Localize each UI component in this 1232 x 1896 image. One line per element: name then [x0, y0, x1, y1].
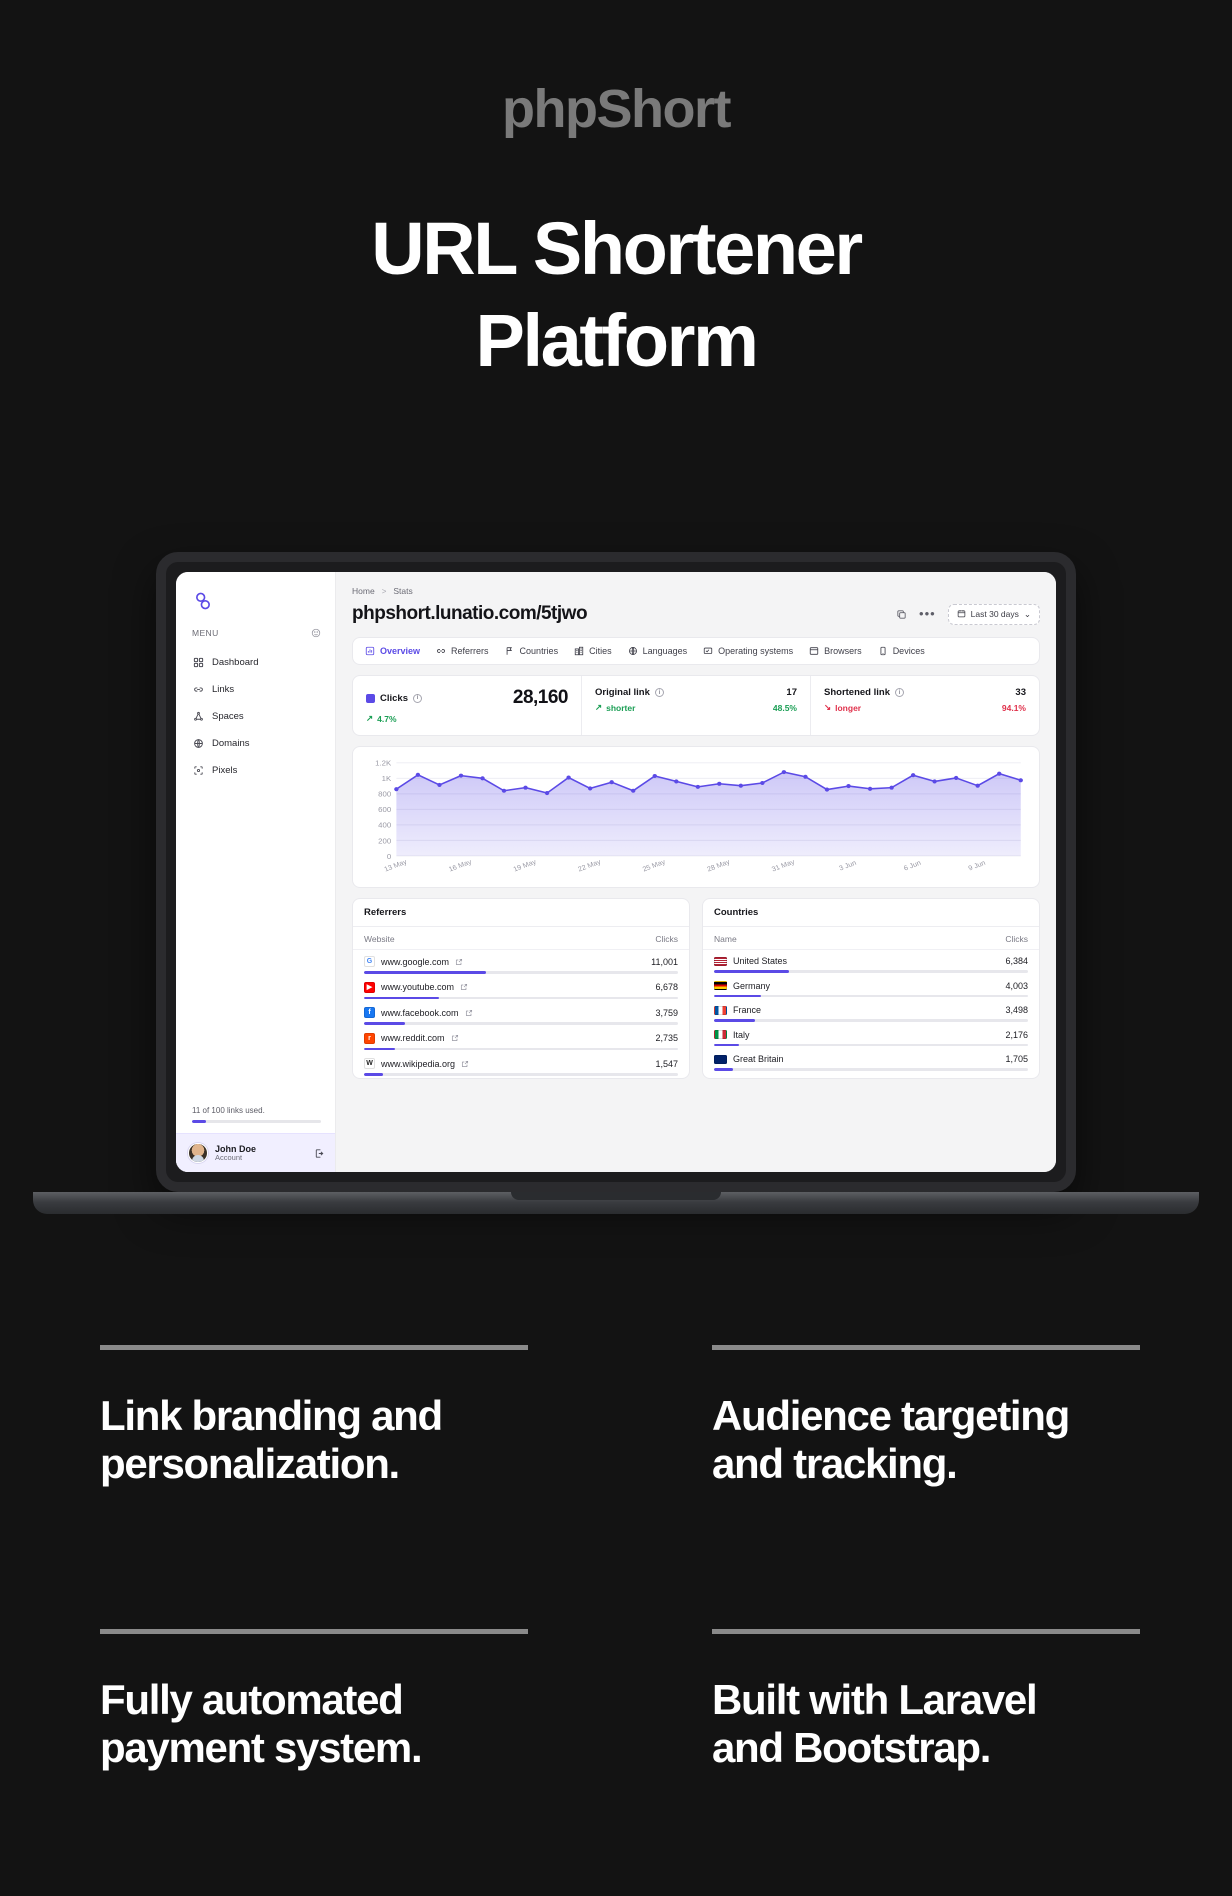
feature-grid: Link branding and personalization. Audie…: [0, 1345, 1232, 1772]
row-label: www.facebook.com: [381, 1008, 459, 1018]
breadcrumb-stats[interactable]: Stats: [393, 586, 412, 596]
row-label: France: [733, 1005, 761, 1015]
bar-chart-icon: [365, 646, 375, 656]
row-top: Gwww.google.com11,001: [364, 956, 678, 967]
row-top: Germany4,003: [714, 981, 1028, 991]
user-subtitle: Account: [215, 1154, 307, 1163]
info-icon[interactable]: i: [413, 694, 422, 703]
detail-tables: Referrers Website Clicks Gwww.google.com…: [352, 898, 1040, 1079]
stat-label: Shortened link: [824, 687, 890, 698]
svg-text:19 May: 19 May: [513, 859, 538, 874]
row-clicks: 1,547: [655, 1059, 678, 1069]
row-left: United States: [714, 956, 787, 966]
quota-bar-fill: [192, 1120, 206, 1123]
site-favicon-icon: W: [364, 1058, 375, 1069]
row-top: Italy2,176: [714, 1030, 1028, 1040]
svg-text:1K: 1K: [382, 774, 392, 783]
svg-text:400: 400: [378, 821, 391, 830]
stat-delta: ↗ shorter: [595, 702, 635, 713]
feature-line-2: payment system.: [100, 1724, 421, 1771]
stat-top: Clicks i 28,160: [366, 687, 568, 709]
stat-bottom: ↘ longer 94.1%: [824, 702, 1026, 713]
share-nodes-icon: [192, 710, 204, 722]
row-progress: [714, 995, 1028, 998]
svg-text:31 May: 31 May: [771, 859, 796, 874]
column-website: Website: [364, 934, 395, 944]
arrow-up-right-icon: ↗: [595, 702, 602, 713]
tab-referrers[interactable]: Referrers: [436, 646, 489, 656]
feature-divider: [712, 1629, 1140, 1634]
table-row[interactable]: Great Britain1,705: [703, 1048, 1039, 1073]
stat-left: Original link i: [595, 687, 664, 698]
copy-icon[interactable]: [896, 609, 907, 620]
country-flag-icon: [714, 1030, 727, 1039]
sidebar-item-label: Dashboard: [212, 657, 258, 668]
row-top: ▶www.youtube.com6,678: [364, 982, 678, 993]
app-sidebar: MENU: [176, 572, 336, 1172]
row-top: fwww.facebook.com3,759: [364, 1007, 678, 1018]
sidebar-item-links[interactable]: Links: [184, 677, 327, 701]
country-flag-icon: [714, 957, 727, 966]
stat-delta-label: 4.7%: [377, 714, 396, 724]
date-range-label: Last 30 days: [971, 609, 1019, 619]
feature-line-2: personalization.: [100, 1440, 399, 1487]
feature-divider: [100, 1345, 528, 1350]
feature-line-1: Audience targeting: [712, 1392, 1069, 1439]
feature-line-2: and Bootstrap.: [712, 1724, 990, 1771]
row-clicks: 2,176: [1005, 1030, 1028, 1040]
stat-cards: Clicks i 28,160 ↗ 4.7%: [352, 675, 1040, 736]
color-swatch-icon: [366, 694, 375, 703]
sidebar-item-spaces[interactable]: Spaces: [184, 704, 327, 728]
page-headline: URL Shortener Platform: [0, 140, 1232, 378]
grid-icon: [192, 656, 204, 668]
external-link-icon[interactable]: [465, 1009, 473, 1017]
country-flag-icon: [714, 1055, 727, 1064]
globe-icon: [628, 646, 638, 656]
quota-bar: [192, 1120, 321, 1123]
countries-title: Countries: [703, 899, 1039, 927]
svg-text:0: 0: [387, 852, 391, 861]
row-clicks: 4,003: [1005, 981, 1028, 991]
country-flag-icon: [714, 981, 727, 990]
countries-card: Countries Name Clicks United States6,384…: [702, 898, 1040, 1079]
table-row[interactable]: United States6,384: [703, 950, 1039, 975]
row-left: Wwww.wikipedia.org: [364, 1058, 469, 1069]
user-account-box[interactable]: John Doe Account: [176, 1133, 335, 1172]
tab-label: Devices: [893, 646, 925, 656]
stat-card-original-link: Original link i 17 ↗ shorter 48.5: [582, 676, 811, 735]
row-progress: [714, 970, 1028, 973]
row-clicks: 3,759: [655, 1008, 678, 1018]
info-icon[interactable]: i: [895, 688, 904, 697]
device-icon: [878, 646, 888, 656]
external-link-icon[interactable]: [460, 983, 468, 991]
stat-top: Shortened link i 33: [824, 687, 1026, 698]
stat-value: 33: [1015, 687, 1026, 698]
row-top: Great Britain1,705: [714, 1054, 1028, 1064]
row-top: France3,498: [714, 1005, 1028, 1015]
svg-text:25 May: 25 May: [642, 859, 667, 874]
row-left: rwww.reddit.com: [364, 1033, 459, 1044]
stat-delta: ↗ 4.7%: [366, 713, 397, 724]
feature-divider: [712, 1345, 1140, 1350]
site-favicon-icon: r: [364, 1033, 375, 1044]
chevron-down-icon: ⌄: [1024, 609, 1031, 620]
row-clicks: 1,705: [1005, 1054, 1028, 1064]
flag-icon: [505, 646, 515, 656]
feature-item: Link branding and personalization.: [100, 1345, 528, 1489]
feature-line-1: Fully automated: [100, 1676, 403, 1723]
row-progress: [714, 1019, 1028, 1022]
sidebar-item-pixels[interactable]: Pixels: [184, 758, 327, 782]
tab-label: Languages: [643, 646, 688, 656]
table-row[interactable]: France3,498: [703, 999, 1039, 1024]
feature-text: Fully automated payment system.: [100, 1676, 528, 1773]
external-link-icon[interactable]: [461, 1060, 469, 1068]
countries-rows: United States6,384Germany4,003France3,49…: [703, 950, 1039, 1073]
external-link-icon[interactable]: [455, 958, 463, 966]
svg-text:600: 600: [378, 805, 391, 814]
row-left: France: [714, 1005, 761, 1015]
title-actions: ••• Last 30 days ⌄: [896, 604, 1040, 625]
stat-percent: 94.1%: [1002, 703, 1026, 713]
row-label: www.youtube.com: [381, 982, 454, 992]
tab-overview[interactable]: Overview: [365, 646, 420, 656]
date-range-selector[interactable]: Last 30 days ⌄: [948, 604, 1040, 625]
row-left: Great Britain: [714, 1054, 784, 1064]
user-text: John Doe Account: [215, 1144, 307, 1163]
logout-icon[interactable]: [314, 1148, 325, 1159]
stat-label: Clicks: [380, 693, 408, 704]
window-icon: [809, 646, 819, 656]
building-icon: [574, 646, 584, 656]
row-progress: [364, 1048, 678, 1051]
feature-text: Link branding and personalization.: [100, 1392, 528, 1489]
stats-tabs: Overview Referrers: [352, 637, 1040, 665]
sidebar-item-domains[interactable]: Domains: [184, 731, 327, 755]
link-quota: 11 of 100 links used.: [176, 1106, 335, 1133]
site-favicon-icon: G: [364, 956, 375, 967]
breadcrumb-separator: >: [382, 587, 387, 596]
feature-text: Audience targeting and tracking.: [712, 1392, 1140, 1489]
stat-bottom: ↗ 4.7%: [366, 713, 568, 724]
row-label: Italy: [733, 1030, 750, 1040]
feature-divider: [100, 1629, 528, 1634]
laptop-mockup: MENU: [0, 552, 1232, 1214]
stat-top: Original link i 17: [595, 687, 797, 698]
menu-label: MENU: [192, 628, 219, 638]
stat-left: Shortened link i: [824, 687, 904, 698]
tab-label: Cities: [589, 646, 612, 656]
row-clicks: 2,735: [655, 1033, 678, 1043]
stat-label: Original link: [595, 687, 650, 698]
row-clicks: 3,498: [1005, 1005, 1028, 1015]
row-progress: [714, 1068, 1028, 1071]
sidebar-spacer: [176, 782, 335, 1106]
row-progress: [364, 971, 678, 974]
table-row[interactable]: Gwww.google.com11,001: [353, 950, 689, 976]
svg-text:16 May: 16 May: [448, 859, 473, 874]
table-row[interactable]: fwww.facebook.com3,759: [353, 1001, 689, 1027]
referrers-card: Referrers Website Clicks Gwww.google.com…: [352, 898, 690, 1079]
quota-text: 11 of 100 links used.: [192, 1106, 321, 1115]
row-left: Gwww.google.com: [364, 956, 463, 967]
feature-item: Audience targeting and tracking.: [712, 1345, 1140, 1489]
poster-page: phpShort URL Shortener Platform MENU: [0, 0, 1232, 1896]
row-progress: [364, 1073, 678, 1076]
feature-item: Fully automated payment system.: [100, 1629, 528, 1773]
stat-value: 28,160: [513, 687, 568, 709]
feature-line-1: Link branding and: [100, 1392, 442, 1439]
sidebar-item-label: Domains: [212, 738, 250, 749]
arrow-down-right-icon: ↘: [824, 702, 831, 713]
referrers-columns: Website Clicks: [353, 927, 689, 950]
stat-delta-label: shorter: [606, 703, 635, 713]
stat-delta-label: longer: [835, 703, 861, 713]
column-name: Name: [714, 934, 737, 944]
row-clicks: 11,001: [651, 957, 678, 967]
row-left: fwww.facebook.com: [364, 1007, 473, 1018]
countries-columns: Name Clicks: [703, 927, 1039, 950]
tab-operating-systems[interactable]: Operating systems: [703, 646, 793, 656]
dashboard-screen: MENU: [176, 572, 1056, 1172]
app-logo-icon[interactable]: [176, 586, 335, 628]
row-left: Italy: [714, 1030, 750, 1040]
brand-title: phpShort: [0, 0, 1232, 140]
row-left: ▶www.youtube.com: [364, 982, 468, 993]
tab-cities[interactable]: Cities: [574, 646, 612, 656]
sidebar-item-dashboard[interactable]: Dashboard: [184, 650, 327, 674]
stat-percent: 48.5%: [773, 703, 797, 713]
row-left: Germany: [714, 981, 770, 991]
tab-devices[interactable]: Devices: [878, 646, 925, 656]
row-label: www.wikipedia.org: [381, 1059, 455, 1069]
row-progress: [714, 1044, 1028, 1047]
stat-delta: ↘ longer: [824, 702, 861, 713]
referrers-rows: Gwww.google.com11,001▶www.youtube.com6,6…: [353, 950, 689, 1078]
menu-header: MENU: [176, 628, 335, 638]
svg-text:6 Jun: 6 Jun: [903, 860, 922, 872]
column-clicks: Clicks: [1005, 934, 1028, 944]
row-label: www.google.com: [381, 957, 449, 967]
country-flag-icon: [714, 1006, 727, 1015]
sidebar-item-label: Links: [212, 684, 234, 695]
row-label: Germany: [733, 981, 770, 991]
laptop-base: [33, 1192, 1199, 1214]
svg-text:1.2K: 1.2K: [375, 759, 391, 768]
row-top: rwww.reddit.com2,735: [364, 1033, 678, 1044]
monitor-icon: [703, 646, 713, 656]
info-icon[interactable]: i: [655, 688, 664, 697]
sidebar-nav: Dashboard Links: [176, 650, 335, 782]
column-clicks: Clicks: [655, 934, 678, 944]
tab-label: Browsers: [824, 646, 862, 656]
breadcrumb: Home > Stats: [352, 586, 1040, 596]
headline-line-2: Platform: [0, 304, 1232, 378]
tab-label: Referrers: [451, 646, 489, 656]
site-favicon-icon: f: [364, 1007, 375, 1018]
arrow-up-right-icon: ↗: [366, 713, 373, 724]
tab-label: Countries: [520, 646, 559, 656]
svg-text:28 May: 28 May: [706, 859, 731, 874]
stat-card-clicks: Clicks i 28,160 ↗ 4.7%: [353, 676, 582, 735]
stat-left: Clicks i: [366, 693, 422, 704]
svg-text:22 May: 22 May: [577, 859, 602, 874]
crosshair-icon: [192, 764, 204, 776]
app-main: Home > Stats phpshort.lunatio.com/5tjwo: [336, 572, 1056, 1172]
title-row: phpshort.lunatio.com/5tjwo •••: [352, 603, 1040, 625]
site-favicon-icon: ▶: [364, 982, 375, 993]
table-row[interactable]: Germany4,003: [703, 975, 1039, 1000]
referrers-title: Referrers: [353, 899, 689, 927]
table-row[interactable]: ▶www.youtube.com6,678: [353, 976, 689, 1002]
feature-item: Built with Laravel and Bootstrap.: [712, 1629, 1140, 1773]
feature-line-1: Built with Laravel: [712, 1676, 1036, 1723]
table-row[interactable]: Wwww.wikipedia.org1,547: [353, 1052, 689, 1078]
stat-value: 17: [786, 687, 797, 698]
external-link-icon[interactable]: [451, 1034, 459, 1042]
svg-text:13 May: 13 May: [383, 859, 408, 874]
table-row[interactable]: rwww.reddit.com2,735: [353, 1027, 689, 1053]
svg-text:3 Jun: 3 Jun: [838, 860, 857, 872]
sidebar-item-label: Pixels: [212, 765, 237, 776]
tab-label: Overview: [380, 646, 420, 656]
table-row[interactable]: Italy2,176: [703, 1024, 1039, 1049]
clicks-area-chart: 02004006008001K1.2K 13 May16 May19 May22…: [361, 757, 1027, 883]
page-title: phpshort.lunatio.com/5tjwo: [352, 603, 587, 625]
calendar-icon: [957, 609, 966, 620]
row-label: Great Britain: [733, 1054, 784, 1064]
chart-svg: 02004006008001K1.2K 13 May16 May19 May22…: [361, 757, 1027, 883]
laptop-body: MENU: [156, 552, 1076, 1192]
link-icon: [436, 646, 446, 656]
feature-text: Built with Laravel and Bootstrap.: [712, 1676, 1140, 1773]
globe-icon: [192, 737, 204, 749]
tab-browsers[interactable]: Browsers: [809, 646, 862, 656]
svg-text:800: 800: [378, 790, 391, 799]
emoji-icon[interactable]: [311, 628, 321, 638]
link-icon: [192, 683, 204, 695]
avatar: [188, 1143, 208, 1163]
sidebar-item-label: Spaces: [212, 711, 244, 722]
tab-languages[interactable]: Languages: [628, 646, 688, 656]
tab-countries[interactable]: Countries: [505, 646, 559, 656]
row-clicks: 6,384: [1005, 956, 1028, 966]
row-label: www.reddit.com: [381, 1033, 445, 1043]
svg-text:200: 200: [378, 837, 391, 846]
row-clicks: 6,678: [655, 982, 678, 992]
stat-card-shortened-link: Shortened link i 33 ↘ longer 94.1: [811, 676, 1039, 735]
stat-bottom: ↗ shorter 48.5%: [595, 702, 797, 713]
row-top: Wwww.wikipedia.org1,547: [364, 1058, 678, 1069]
tab-label: Operating systems: [718, 646, 793, 656]
row-progress: [364, 997, 678, 1000]
svg-text:9 Jun: 9 Jun: [968, 860, 987, 872]
row-progress: [364, 1022, 678, 1025]
feature-line-2: and tracking.: [712, 1440, 957, 1487]
headline-line-1: URL Shortener: [371, 207, 861, 290]
clicks-chart-card: 02004006008001K1.2K 13 May16 May19 May22…: [352, 746, 1040, 888]
row-top: United States6,384: [714, 956, 1028, 966]
ellipsis-icon[interactable]: •••: [919, 611, 936, 617]
breadcrumb-home[interactable]: Home: [352, 586, 375, 596]
laptop-notch: [511, 1192, 721, 1200]
row-label: United States: [733, 956, 787, 966]
